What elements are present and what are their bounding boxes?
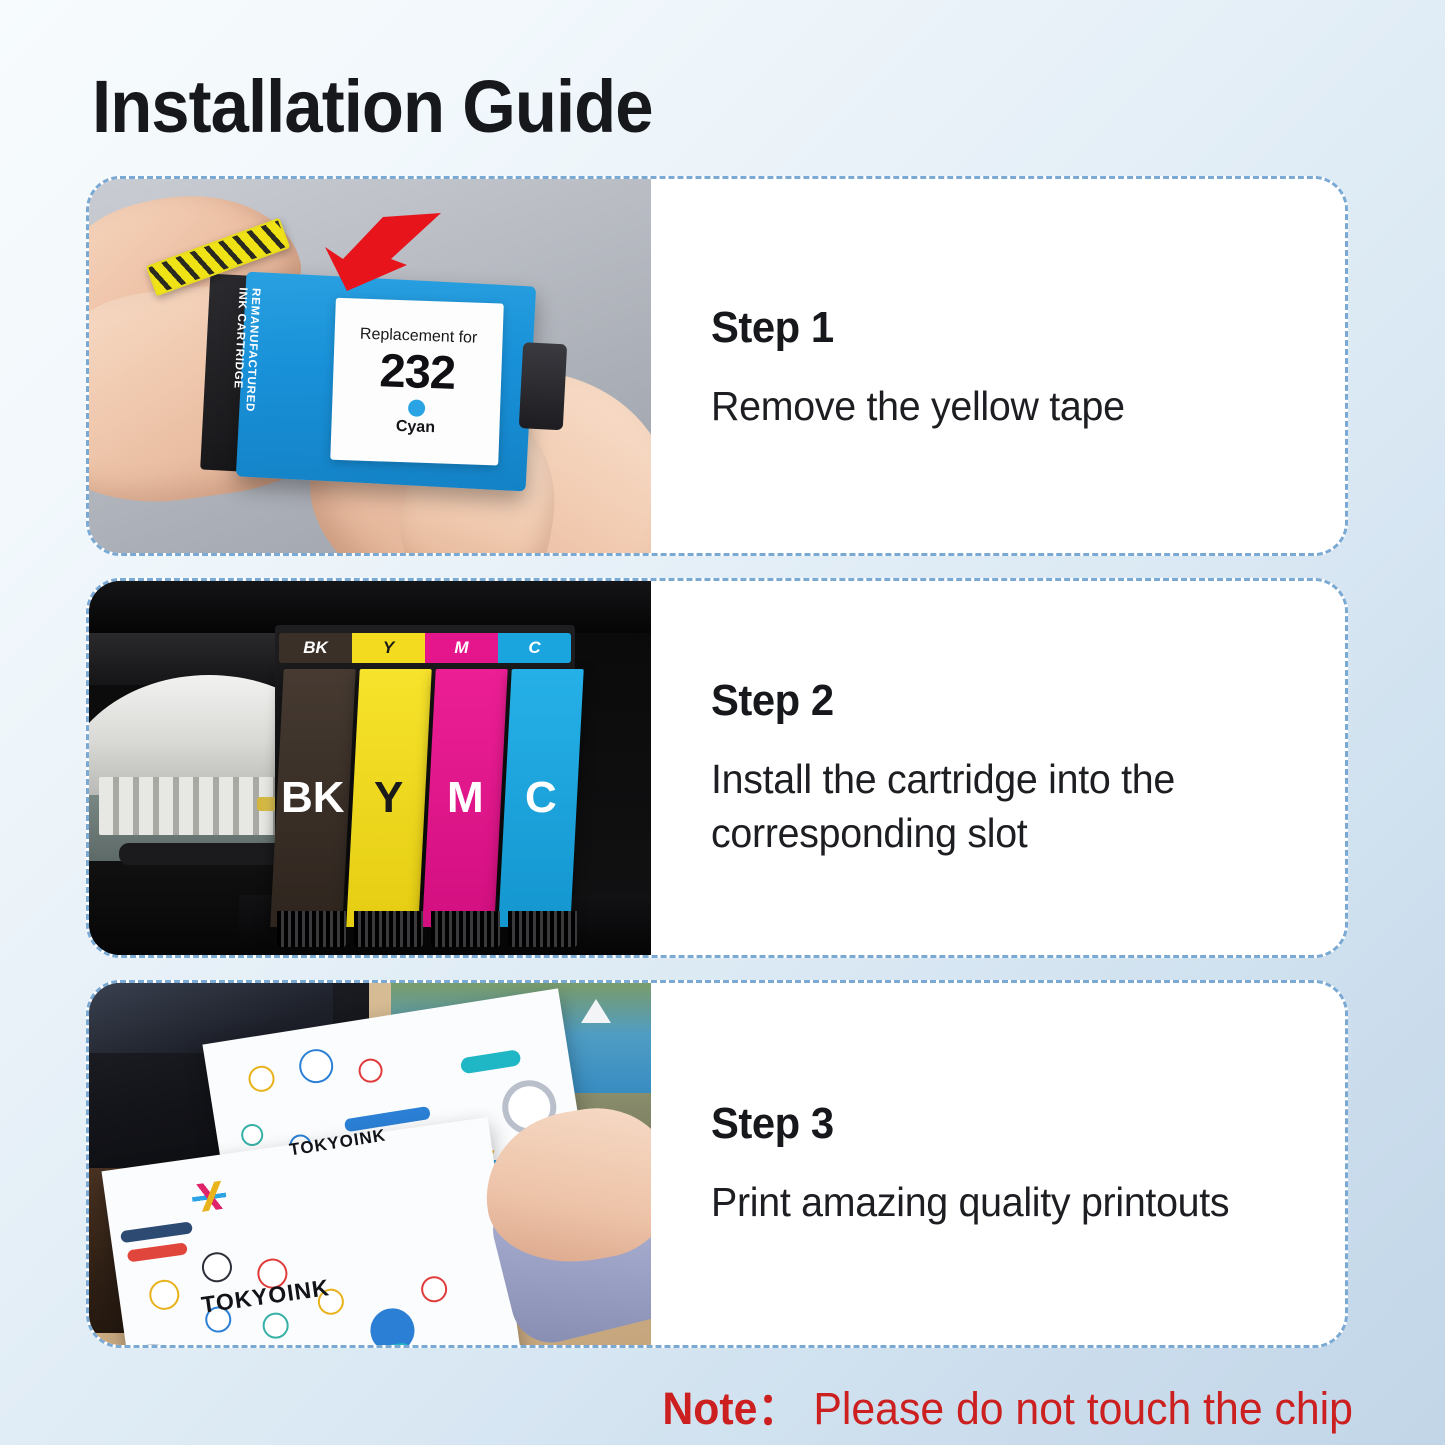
- cartridge-y-label: Y: [374, 773, 403, 823]
- step-2-heading: Step 2: [711, 676, 1313, 726]
- step-2-photo: BK Y M C BK: [89, 581, 651, 955]
- printout-node-icon: [261, 1311, 290, 1340]
- cartridge-m: M: [422, 669, 508, 927]
- cartridge-connector-y: [354, 911, 423, 947]
- printout-node-icon: [247, 1064, 277, 1094]
- cartridge-y: Y: [346, 669, 432, 927]
- printout-bar: [120, 1221, 193, 1243]
- cartridge-connector-c: [508, 911, 577, 947]
- step-1-heading: Step 1: [711, 303, 1313, 353]
- installed-cartridges-row: BK Y M C: [277, 669, 577, 927]
- printout-node-icon: [200, 1250, 234, 1284]
- cartridge-label: Replacement for 232 Cyan: [330, 298, 504, 466]
- note-text: Please do not touch the chip: [813, 1383, 1353, 1434]
- cartridge-c-label: C: [525, 773, 557, 823]
- slot-tab-y-label: Y: [383, 638, 394, 658]
- cartridge-bk: BK: [270, 669, 356, 927]
- printout-node-icon: [357, 1057, 384, 1084]
- step-1-body: Remove the yellow tape: [711, 379, 1249, 433]
- cartridge-label-color-name: Cyan: [396, 417, 436, 436]
- cartridge-bk-label: BK: [281, 773, 345, 823]
- printout-node-icon: [419, 1275, 448, 1304]
- printout-pill: [460, 1049, 522, 1074]
- cartridge-c: C: [498, 669, 584, 927]
- note-line: Note：Please do not touch the chip: [662, 1372, 1353, 1437]
- printout-node-icon: [147, 1278, 181, 1312]
- step-3-text: Step 3 Print amazing quality printouts: [651, 983, 1345, 1345]
- hand-holding-cyan-cartridge-photo: REMANUFACTURED INK CARTRIDGE Replacement…: [89, 179, 651, 553]
- cartridge-clip: [519, 342, 567, 430]
- step-3-photo: TOKYOINK TOKYOINK: [89, 983, 651, 1345]
- slot-tab-c-label: C: [528, 638, 540, 658]
- steps-container: REMANUFACTURED INK CARTRIDGE Replacement…: [0, 0, 1445, 1445]
- printout-node-icon: [240, 1122, 265, 1147]
- printout-node-icon: [297, 1047, 336, 1086]
- slot-tab-y: Y: [352, 633, 425, 663]
- step-1-photo: REMANUFACTURED INK CARTRIDGE Replacement…: [89, 179, 651, 553]
- step-panel-1: REMANUFACTURED INK CARTRIDGE Replacement…: [86, 176, 1348, 556]
- cartridge-label-model: 232: [379, 346, 456, 396]
- cartridge-connector-m: [431, 911, 500, 947]
- cartridge-connector-bk: [277, 911, 346, 947]
- cartridge-m-label: M: [447, 773, 484, 823]
- printout-node-filled-icon: [368, 1306, 418, 1345]
- step-3-body: Print amazing quality printouts: [711, 1175, 1249, 1229]
- slot-tab-m-label: M: [454, 638, 468, 658]
- cyan-color-dot-icon: [407, 399, 425, 417]
- cartridge-connectors-row: [277, 911, 577, 947]
- slot-tab-bk: BK: [279, 633, 352, 663]
- printed-infographic-sheets-photo: TOKYOINK TOKYOINK: [89, 983, 651, 1345]
- slot-tab-row: BK Y M C: [279, 633, 571, 663]
- step-2-text: Step 2 Install the cartridge into the co…: [651, 581, 1345, 955]
- step-2-body: Install the cartridge into the correspon…: [711, 752, 1249, 860]
- slot-tab-bk-label: BK: [303, 638, 328, 658]
- step-3-heading: Step 3: [711, 1099, 1313, 1149]
- step-panel-3: TOKYOINK TOKYOINK Step 3 Print amazing q…: [86, 980, 1348, 1348]
- printout-bar: [127, 1242, 188, 1262]
- printout-pill: [325, 1342, 413, 1345]
- printer-cartridge-slots-photo: BK Y M C BK: [89, 581, 651, 955]
- tokyoink-logo-icon: [190, 1180, 228, 1212]
- step-1-text: Step 1 Remove the yellow tape: [651, 179, 1345, 553]
- slot-tab-c: C: [498, 633, 571, 663]
- step-panel-2: BK Y M C BK: [86, 578, 1348, 958]
- printout-donut-icon: [118, 1340, 188, 1345]
- slot-tab-m: M: [425, 633, 498, 663]
- note-label: Note：: [662, 1383, 800, 1434]
